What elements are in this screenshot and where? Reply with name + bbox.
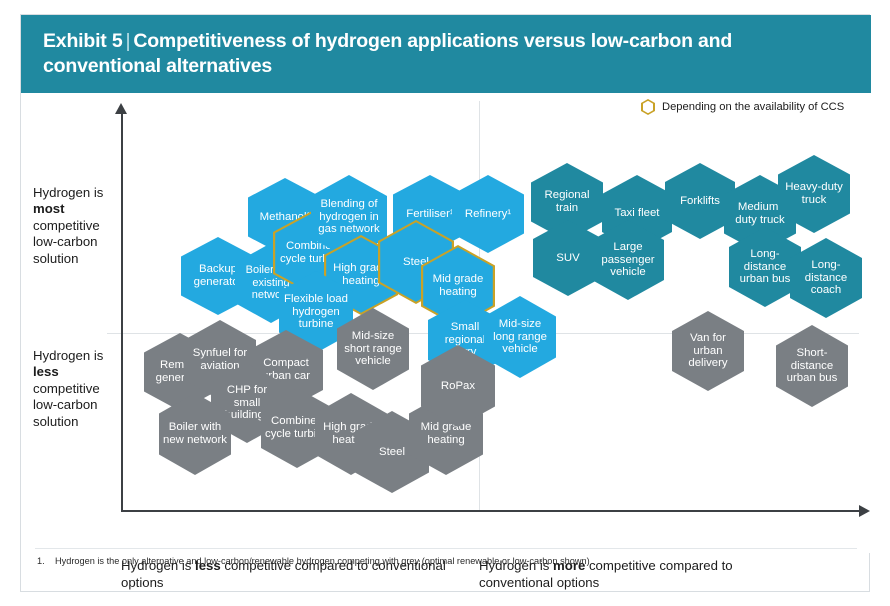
hexagon-label: Blending of hydrogen in gas network [315, 198, 383, 236]
hexagon-cluster: Backup generatorMethanol¹Boiler with exi… [21, 93, 871, 553]
hexagon-label: Flexible load hydrogen turbine [283, 293, 349, 331]
hexagon-label: Long-distance urban bus [733, 248, 797, 286]
hexagon-label: Regional train [535, 189, 599, 214]
hexagon-label: Mid-size short range vehicle [341, 330, 405, 368]
hexagon-label: Short-distance urban bus [780, 347, 844, 385]
hexagon-label: Long-distance coach [794, 259, 858, 297]
hexagon-node[interactable]: Refinery¹ [452, 175, 524, 253]
footnote-divider [35, 548, 857, 549]
title-text: Competitiveness of hydrogen applications… [43, 30, 732, 77]
hexagon-label: Forklifts [669, 195, 731, 208]
exhibit-header: Exhibit 5|Competitiveness of hydrogen ap… [21, 15, 871, 93]
hexagon-label: Van for urban delivery [676, 332, 740, 370]
hexagon-label: SUV [537, 252, 599, 265]
hexagon-label: Large passenger vehicle [596, 241, 660, 279]
hexagon-label: Mid-size long range vehicle [488, 318, 552, 356]
exhibit-number: Exhibit 5 [43, 30, 122, 52]
hexagon-label: Mid grade heating [427, 273, 489, 298]
footnote-text: Hydrogen is the only alternative and low… [55, 556, 590, 566]
hexagon-label: RoPax [425, 380, 491, 393]
title-separator: | [122, 30, 133, 52]
hexagon-label: Boiler with new network [163, 421, 227, 446]
footnote: 1. Hydrogen is the only alternative and … [37, 556, 590, 566]
hexagon-label: Heavy-duty truck [782, 181, 846, 206]
hexagon-node[interactable]: Van for urban delivery [672, 311, 744, 391]
hexagon-node[interactable]: Short-distance urban bus [776, 325, 848, 407]
exhibit-card: Exhibit 5|Competitiveness of hydrogen ap… [20, 14, 870, 592]
chart-plot-area: Depending on the availability of CCS Hyd… [21, 93, 871, 553]
hexagon-label: Refinery¹ [456, 208, 520, 221]
hexagon-label: Mid grade heating [413, 421, 479, 446]
footnote-number: 1. [37, 556, 55, 566]
hexagon-label: Taxi fleet [606, 207, 668, 220]
page-title: Exhibit 5|Competitiveness of hydrogen ap… [43, 29, 849, 79]
